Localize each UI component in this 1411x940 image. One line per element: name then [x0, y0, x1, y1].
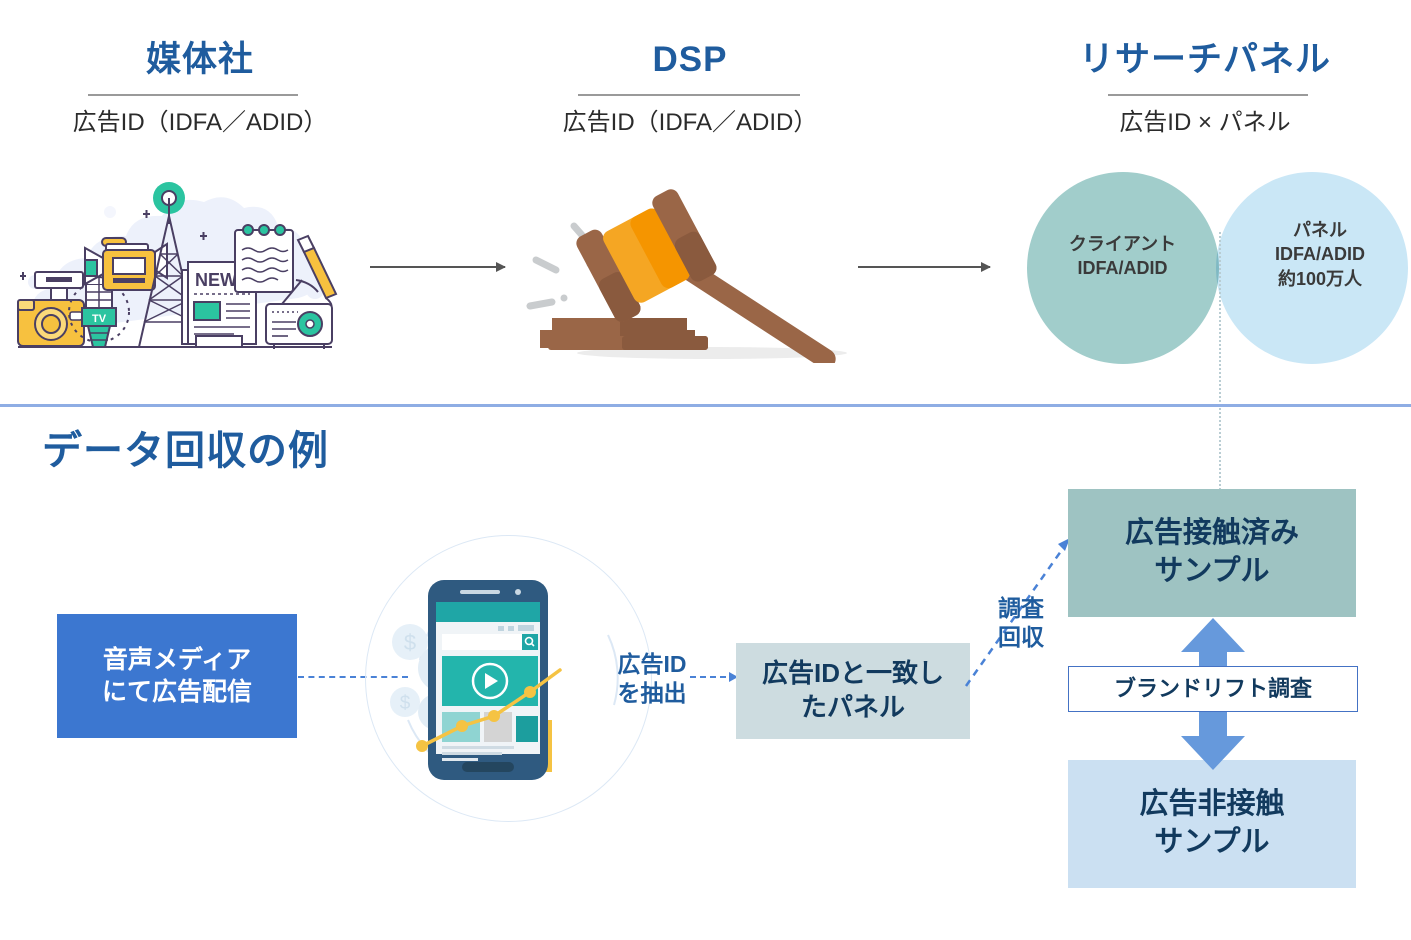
- connector-extract-to-panel: [690, 676, 736, 678]
- section-divider: [0, 404, 1411, 407]
- column-rule-media: [88, 94, 298, 96]
- column-rule-dsp: [578, 94, 800, 96]
- unexposed-sample-line2: サンプル: [1139, 824, 1284, 862]
- survey-collect-label: 調査 回収: [986, 594, 1056, 652]
- survey-label-line2: 回収: [986, 623, 1056, 652]
- svg-text:$: $: [404, 630, 416, 655]
- delivery-box-line2: にて広告配信: [102, 676, 252, 709]
- venn-client-line1: クライアント: [1040, 232, 1205, 256]
- extract-label-line1: 広告ID: [602, 650, 702, 679]
- venn-label-panel: パネル IDFA/ADID 約100万人: [1240, 218, 1400, 291]
- exposed-sample-line2: サンプル: [1125, 553, 1299, 591]
- brandlift-survey-box: ブランドリフト調査: [1068, 666, 1358, 712]
- venn-panel-line3: 約100万人: [1240, 267, 1400, 291]
- venn-to-exposed-connector: [1219, 232, 1221, 490]
- matched-panel-line2: たパネル: [762, 691, 944, 725]
- column-rule-panel: [1108, 94, 1308, 96]
- media-illustration: TV: [10, 172, 340, 360]
- exposed-sample-line1: 広告接触済み: [1125, 515, 1299, 553]
- venn-panel-line2: IDFA/ADID: [1240, 242, 1400, 266]
- venn-panel-line1: パネル: [1240, 218, 1400, 242]
- column-title-media: 媒体社: [30, 42, 370, 77]
- venn-client-line2: IDFA/ADID: [1040, 256, 1205, 280]
- survey-label-line1: 調査: [986, 594, 1056, 623]
- section-title-data-collection: データ回収の例: [42, 418, 329, 476]
- matched-panel-line1: 広告IDと一致し: [762, 657, 944, 691]
- column-title-panel: リサーチパネル: [1030, 42, 1380, 77]
- column-title-dsp: DSP: [520, 42, 860, 77]
- unexposed-sample-line1: 広告非接触: [1139, 786, 1284, 824]
- flow-arrow-media-to-dsp: [370, 266, 505, 268]
- column-subtitle-panel: 広告ID × パネル: [1030, 110, 1380, 136]
- flow-arrow-dsp-to-panel: [858, 266, 990, 268]
- column-subtitle-dsp: 広告ID（IDFA／ADID）: [510, 110, 870, 136]
- venn-label-client: クライアント IDFA/ADID: [1040, 232, 1205, 281]
- gavel-illustration: [512, 178, 862, 363]
- delivery-box-line1: 音声メディア: [102, 644, 252, 677]
- exposed-sample-box: 広告接触済み サンプル: [1068, 489, 1356, 617]
- column-subtitle-media: 広告ID（IDFA／ADID）: [20, 110, 380, 136]
- extract-id-label: 広告ID を抽出: [602, 650, 702, 708]
- delivery-box: 音声メディア にて広告配信: [57, 614, 297, 738]
- extract-label-line2: を抽出: [602, 679, 702, 708]
- unexposed-sample-box: 広告非接触 サンプル: [1068, 760, 1356, 888]
- svg-text:TV: TV: [92, 313, 107, 325]
- brandlift-survey-label: ブランドリフト調査: [1114, 675, 1312, 704]
- svg-text:$: $: [400, 693, 411, 714]
- matched-panel-box: 広告IDと一致し たパネル: [736, 643, 970, 739]
